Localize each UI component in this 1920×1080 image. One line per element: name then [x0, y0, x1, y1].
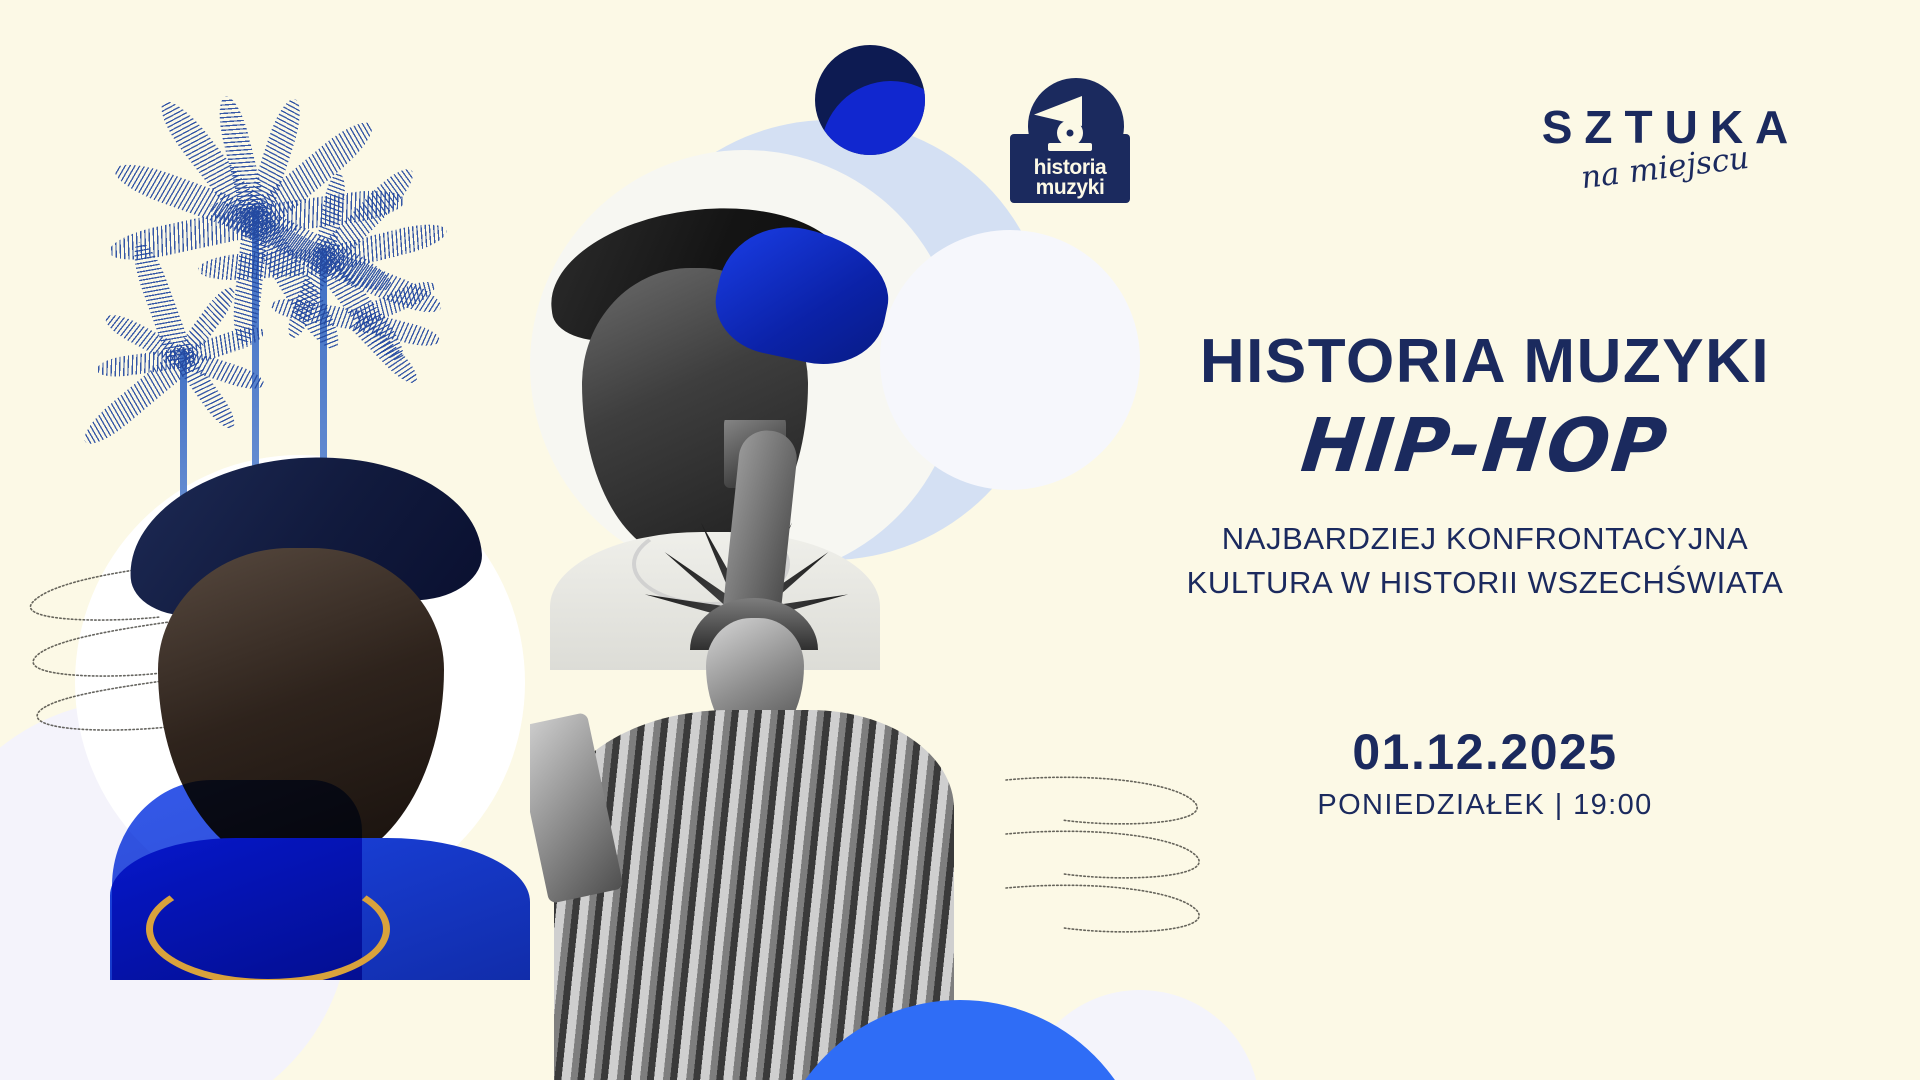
record-sleeve-icon: historia muzyki: [1010, 134, 1130, 203]
event-day-time: PONIEDZIAŁEK | 19:00: [1090, 789, 1880, 822]
logo-line-1: historia: [1034, 158, 1107, 178]
gold-chain-graphic: [146, 872, 390, 980]
tagline-line-1: NAJBARDZIEJ KONFRONTACYJNA: [1090, 517, 1880, 561]
event-date: 01.12.2025: [1090, 723, 1880, 781]
sztuka-na-miejscu-logo[interactable]: SZTUKA na miejscu: [1515, 100, 1815, 230]
sleeve-slot-icon: [1048, 143, 1092, 151]
logo-line-2: muzyki: [1036, 178, 1105, 198]
event-poster: historia muzyki SZTUKA na miejscu HISTOR…: [0, 0, 1920, 1080]
genre-title: HIP-HOP: [1085, 403, 1884, 489]
event-date-block: 01.12.2025 PONIEDZIAŁEK | 19:00: [1090, 723, 1880, 822]
page-title: HISTORIA MUZYKI: [1090, 330, 1880, 393]
biggie-portrait: [110, 420, 530, 980]
poster-content: HISTORIA MUZYKI HIP-HOP NAJBARDZIEJ KONF…: [1090, 330, 1880, 822]
tagline-line-2: KULTURA W HISTORII WSZECHŚWIATA: [1090, 561, 1880, 605]
historia-muzyki-logo[interactable]: historia muzyki: [1010, 78, 1130, 203]
decorative-circle-navy: [815, 45, 925, 155]
statue-of-liberty-graphic: [530, 420, 960, 1080]
